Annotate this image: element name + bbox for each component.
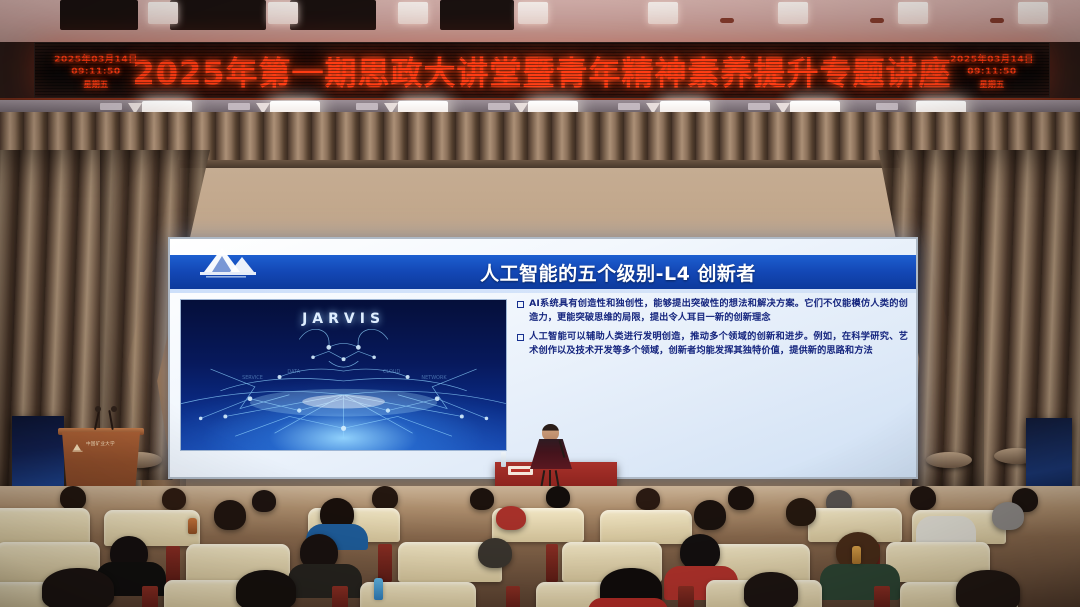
led-left-time: 09:11:50 bbox=[71, 67, 121, 77]
seat-armrest bbox=[142, 586, 158, 607]
led-banner: 2025年第一期思政大讲堂暨青年精神素养提升专题讲座 2025年03月14日 0… bbox=[34, 42, 1050, 98]
led-left-date: 2025年03月14日 bbox=[54, 52, 138, 65]
lecture-hall-photo: 2025年第一期思政大讲堂暨青年精神素养提升专题讲座 2025年03月14日 0… bbox=[0, 0, 1080, 607]
audience-head bbox=[162, 488, 186, 510]
ceiling-light-panel bbox=[148, 2, 178, 24]
audience-head bbox=[744, 572, 798, 607]
water-bottle bbox=[374, 578, 383, 600]
jarvis-image: SERVICEDATA CLOUDNETWORK JARVIS bbox=[180, 299, 507, 451]
square-bullet-icon bbox=[517, 334, 524, 341]
svg-text:SERVICE: SERVICE bbox=[242, 375, 263, 381]
svg-text:DATA: DATA bbox=[287, 369, 300, 375]
audience-head bbox=[478, 538, 512, 568]
audience-head bbox=[636, 488, 660, 510]
audience-torso bbox=[288, 564, 362, 598]
water-bottle bbox=[852, 546, 861, 564]
seat-armrest bbox=[678, 586, 694, 607]
svg-text:CLOUD: CLOUD bbox=[383, 369, 400, 375]
podium-institution-text: 中国矿业大学 bbox=[86, 441, 115, 447]
audience-head bbox=[992, 502, 1024, 530]
audience-head bbox=[680, 534, 720, 570]
led-right-weekday: 星期五 bbox=[980, 79, 1005, 90]
slide-bullet-text: 人工智能可以辅助人类进行发明创造，推动多个领域的创新和进步。例如，在科学研究、艺… bbox=[529, 330, 908, 357]
seat-armrest bbox=[546, 544, 558, 582]
led-right-panel: 2025年03月14日 09:11:50 星期五 bbox=[949, 46, 1035, 96]
ceiling-light-panel bbox=[518, 2, 548, 24]
mountain-triangle-logo bbox=[72, 439, 83, 448]
seat-back bbox=[600, 510, 692, 544]
audience-head bbox=[60, 486, 86, 510]
mountain-triangle-logo bbox=[192, 245, 262, 281]
audience-head bbox=[910, 486, 936, 510]
podium-institution-badge: 中国矿业大学 bbox=[72, 438, 128, 449]
audience-head bbox=[470, 488, 494, 510]
water-bottle bbox=[188, 518, 197, 534]
presenter-head bbox=[542, 424, 559, 441]
slide-title: 人工智能的五个级别-L4 创新者 bbox=[170, 259, 916, 286]
presenter-body bbox=[530, 439, 572, 469]
slide-image-column: SERVICEDATA CLOUDNETWORK JARVIS bbox=[170, 295, 513, 477]
seat-armrest bbox=[166, 546, 180, 584]
audience-head bbox=[496, 506, 526, 530]
ceiling-light-panel bbox=[778, 2, 808, 24]
seat-back bbox=[0, 508, 90, 544]
ceiling bbox=[0, 0, 1080, 42]
audience-head bbox=[546, 486, 570, 508]
ceiling-light-panel bbox=[898, 2, 928, 24]
audience-head bbox=[694, 500, 726, 530]
square-bullet-icon bbox=[517, 301, 524, 308]
audience-head bbox=[214, 500, 246, 530]
water-bottle bbox=[501, 452, 506, 467]
ceiling-light-panel bbox=[268, 2, 298, 24]
audience-head bbox=[252, 490, 276, 512]
audience-head bbox=[236, 570, 296, 607]
seat-armrest bbox=[332, 586, 348, 607]
ceiling-light-panel bbox=[648, 2, 678, 24]
led-left-panel: 2025年03月14日 09:11:50 星期五 bbox=[53, 46, 139, 96]
curtain-tieback-right bbox=[926, 452, 972, 468]
ceiling-light-panel bbox=[398, 2, 428, 24]
led-left-weekday: 星期五 bbox=[84, 79, 109, 90]
seat-armrest bbox=[378, 544, 392, 582]
slide-bullet-item: 人工智能可以辅助人类进行发明创造，推动多个领域的创新和进步。例如，在科学研究、艺… bbox=[517, 330, 908, 357]
svg-text:NETWORK: NETWORK bbox=[421, 375, 447, 381]
led-banner-title: 2025年第一期思政大讲堂暨青年精神素养提升专题讲座 bbox=[35, 43, 1049, 98]
seat-armrest bbox=[506, 586, 520, 607]
led-right-time: 09:11:50 bbox=[967, 67, 1017, 77]
audience-head bbox=[956, 570, 1020, 607]
jarvis-caption: JARVIS bbox=[181, 311, 506, 327]
ceiling-light-panel bbox=[1018, 2, 1048, 24]
audience-head bbox=[372, 486, 398, 510]
presenter-figure bbox=[528, 424, 574, 468]
seat-armrest bbox=[874, 586, 890, 607]
led-right-date: 2025年03月14日 bbox=[950, 52, 1034, 65]
slide-bullet-text: AI系统具有创造性和独创性，能够提出突破性的想法和解决方案。它们不仅能模仿人类的… bbox=[529, 297, 908, 324]
audience-head bbox=[42, 568, 114, 607]
audience-torso bbox=[588, 598, 668, 607]
slide-bullet-item: AI系统具有创造性和独创性，能够提出突破性的想法和解决方案。它们不仅能模仿人类的… bbox=[517, 297, 908, 324]
audience-head bbox=[786, 498, 816, 526]
slide-title-bar: 人工智能的五个级别-L4 创新者 bbox=[170, 255, 916, 289]
audience-head bbox=[728, 486, 754, 510]
audience-area bbox=[0, 486, 1080, 607]
